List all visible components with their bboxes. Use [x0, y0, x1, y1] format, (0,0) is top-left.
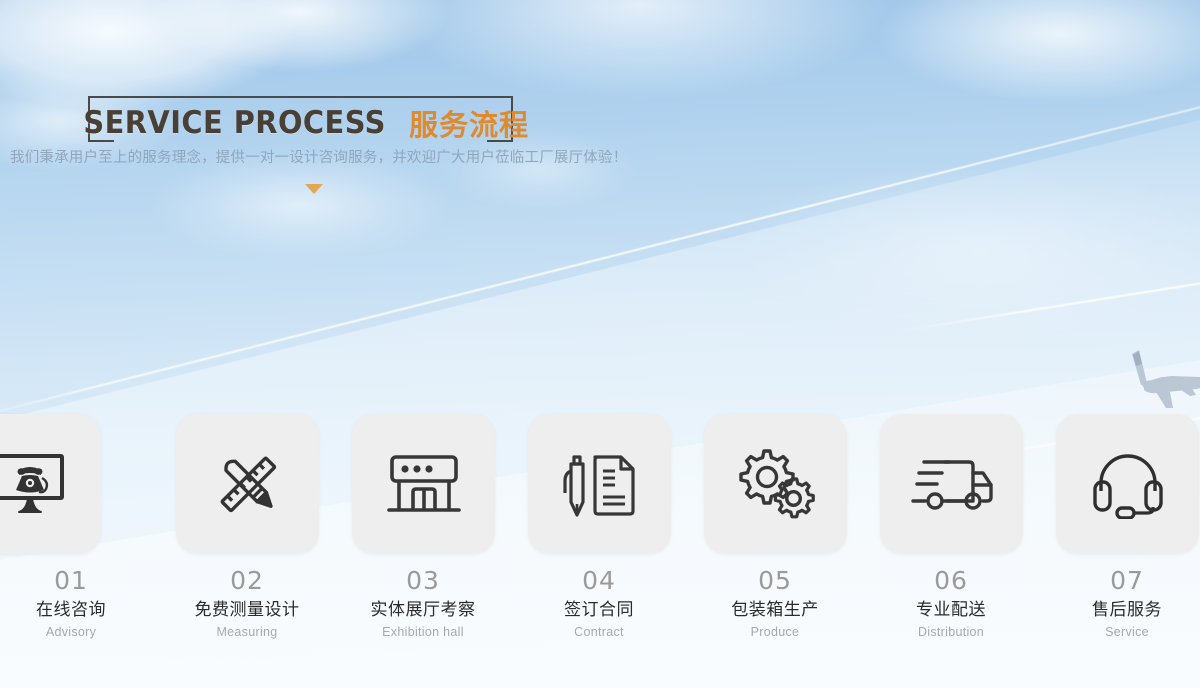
- process-label-01: 01 在线咨询 Advisory: [0, 566, 151, 642]
- ruler-pencil-icon: [213, 449, 283, 519]
- step-title-cn: 签订合同: [519, 596, 679, 623]
- process-card-02[interactable]: [176, 414, 319, 554]
- step-number: 01: [0, 566, 151, 596]
- step-title-en: Distribution: [871, 623, 1031, 642]
- step-title-en: Measuring: [167, 623, 327, 642]
- process-label-04: 04 签订合同 Contract: [519, 566, 679, 642]
- step-number: 03: [343, 566, 503, 596]
- step-number: 04: [519, 566, 679, 596]
- process-card-04[interactable]: [528, 414, 671, 554]
- step-number: 05: [695, 566, 855, 596]
- process-card-07[interactable]: [1056, 414, 1199, 554]
- process-card-05[interactable]: [704, 414, 847, 554]
- service-process-section: SERVICE PROCESS 服务流程 我们秉承用户至上的服务理念，提供一对一…: [0, 0, 1200, 688]
- monitor-phone-icon: [0, 452, 68, 516]
- page-title: SERVICE PROCESS 服务流程: [88, 100, 513, 146]
- step-title-en: Contract: [519, 623, 679, 642]
- step-title-en: Advisory: [0, 623, 151, 642]
- process-card-03[interactable]: [352, 414, 495, 554]
- section-subtitle: 我们秉承用户至上的服务理念，提供一对一设计咨询服务，并欢迎广大用户莅临工厂展厅体…: [10, 146, 670, 167]
- process-cards-row: [0, 414, 1200, 554]
- step-title-cn: 专业配送: [871, 596, 1031, 623]
- storefront-icon: [386, 451, 462, 517]
- step-title-en: Exhibition hall: [343, 623, 503, 642]
- process-card-01[interactable]: [0, 414, 101, 554]
- caret-down-icon: [305, 184, 323, 194]
- process-label-05: 05 包装箱生产 Produce: [695, 566, 855, 642]
- process-label-03: 03 实体展厅考察 Exhibition hall: [343, 566, 503, 642]
- process-label-07: 07 售后服务 Service: [1047, 566, 1200, 642]
- step-title-cn: 实体展厅考察: [343, 596, 503, 623]
- step-title-cn: 包装箱生产: [695, 596, 855, 623]
- process-label-02: 02 免费测量设计 Measuring: [167, 566, 327, 642]
- step-title-cn: 免费测量设计: [167, 596, 327, 623]
- title-english: SERVICE PROCESS: [83, 105, 385, 141]
- gears-icon: [736, 447, 816, 521]
- process-card-06[interactable]: [880, 414, 1023, 554]
- step-title-cn: 在线咨询: [0, 596, 151, 623]
- step-number: 06: [871, 566, 1031, 596]
- process-labels-row: 01 在线咨询 Advisory 02 免费测量设计 Measuring 03 …: [0, 566, 1200, 656]
- title-chinese: 服务流程: [409, 102, 529, 144]
- delivery-truck-icon: [909, 456, 995, 512]
- step-number: 02: [167, 566, 327, 596]
- process-label-06: 06 专业配送 Distribution: [871, 566, 1031, 642]
- airplane-icon: [1092, 336, 1200, 422]
- step-title-en: Service: [1047, 623, 1200, 642]
- step-number: 07: [1047, 566, 1200, 596]
- step-title-cn: 售后服务: [1047, 596, 1200, 623]
- step-title-en: Produce: [695, 623, 855, 642]
- headset-icon: [1091, 449, 1165, 519]
- pen-document-icon: [561, 449, 639, 519]
